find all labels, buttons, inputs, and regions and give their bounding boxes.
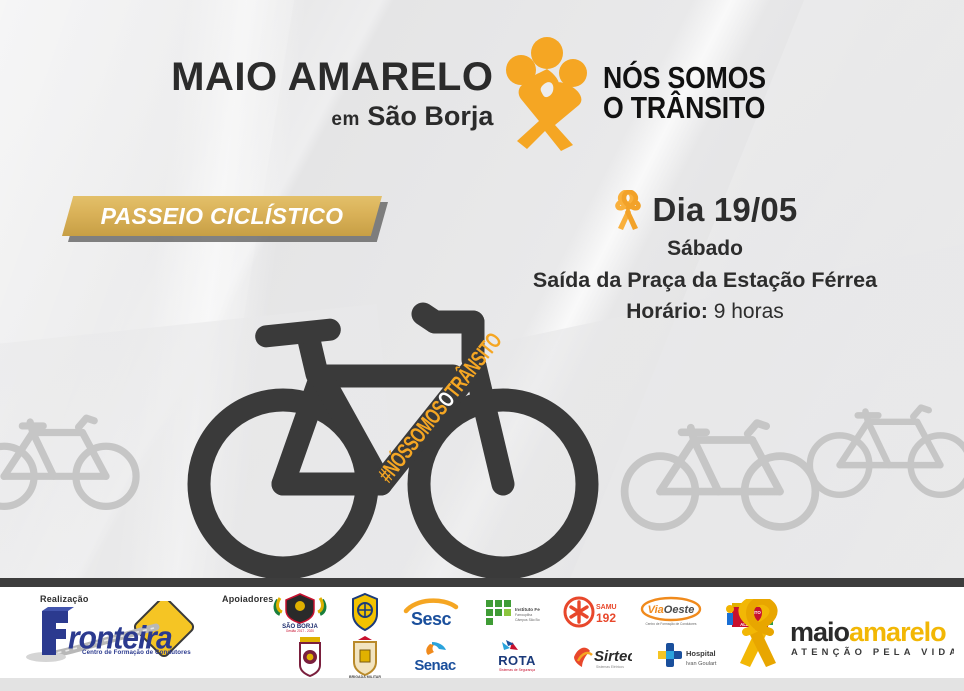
campaign-title-main: MAIO AMARELO (171, 57, 493, 97)
banner-label: PASSEIO CICLÍSTICO (101, 203, 344, 230)
svg-text:Farroupilha: Farroupilha (515, 613, 532, 617)
sponsor-logo-samu-192: SAMU 192 (562, 594, 618, 630)
event-date: Dia 19/05 (653, 191, 798, 229)
sponsor-logo-sao-borja: SÃO BORJA Gestão 2017 - 2020 (272, 592, 328, 632)
yellow-ribbon-icon (740, 601, 776, 667)
svg-text:ViaOeste: ViaOeste (648, 604, 695, 616)
nos-somos-o-transito-logo-icon (499, 33, 595, 153)
svg-text:Gestão 2017 - 2020: Gestão 2017 - 2020 (286, 629, 314, 632)
event-date-row: Dia 19/05 (490, 190, 920, 230)
event-time-label: Horário: (626, 300, 708, 323)
footer-divider (0, 578, 964, 587)
svg-text:SAMU: SAMU (596, 604, 617, 611)
organizer-logo-fronteira: ronteira Centro de Formação de Condutore… (24, 601, 204, 663)
svg-text:Instituto Federal: Instituto Federal (515, 607, 540, 612)
organizer-tagline: Centro de Formação de Condutores (82, 649, 191, 656)
sponsor-logo-senac: Senac (406, 638, 464, 674)
svg-text:Hospital: Hospital (686, 649, 716, 658)
svg-text:Sistemas de Segurança: Sistemas de Segurança (499, 668, 535, 672)
svg-text:Câmpus São Borja: Câmpus São Borja (515, 618, 540, 622)
sponsor-logo-prefeitura-crest (296, 635, 324, 677)
ghost-bicycle-icon (620, 400, 820, 540)
svg-text:Senac: Senac (414, 657, 455, 674)
poster-canvas: #NÓSSOMOSOTRÂNSITO MAIO AMARELO em São B… (0, 0, 964, 691)
footer-bottom-strip (0, 678, 964, 691)
poster-footer: Realização Apoiadores ronteira Centro de… (0, 587, 964, 678)
sponsor-logo-guarda-municipal (350, 592, 380, 632)
sponsor-logo-brigada-militar: BRIGADA MILITAR (348, 634, 382, 678)
campaign-slogan: NÓS SOMOS O TRÂNSITO (603, 63, 792, 123)
sponsors-row-1: SÃO BORJA Gestão 2017 - 2020 Sesc (272, 592, 776, 632)
svg-text:Sirtec: Sirtec (594, 648, 632, 665)
sponsors-grid: SÃO BORJA Gestão 2017 - 2020 Sesc (272, 590, 722, 678)
maio-amarelo-campaign-logo: maioamarelo ATENÇÃO PELA VIDA (728, 599, 954, 667)
event-weekday: Sábado (490, 237, 920, 261)
apoiadores-label: Apoiadores (222, 594, 274, 604)
svg-text:Sesc: Sesc (411, 609, 452, 629)
sponsor-logo-hospital-ivan-goulart: Hospital Ivan Goulart (656, 639, 718, 673)
ghost-bicycle-icon (0, 398, 140, 518)
poster-background: #NÓSSOMOSOTRÂNSITO MAIO AMARELO em São B… (0, 0, 964, 578)
maio-amarelo-tagline: ATENÇÃO PELA VIDA (791, 646, 954, 657)
campaign-slogan-line2: O TRÂNSITO (603, 93, 766, 123)
sponsor-logo-instituto-federal: Instituto Federal Farroupilha Câmpus São… (482, 594, 540, 630)
ghost-bicycle-icon (806, 388, 964, 506)
event-location: Saída da Praça da Estação Férrea (490, 268, 920, 293)
campaign-slogan-line1: NÓS SOMOS (603, 63, 766, 93)
campaign-title-sub: em São Borja (171, 103, 493, 130)
campaign-title-city: São Borja (367, 101, 493, 131)
sponsor-logo-rota: ROTA Sistemas de Segurança (488, 638, 546, 674)
awareness-ribbon-icon (613, 190, 643, 230)
svg-text:Centro de Formação de Condutor: Centro de Formação de Condutores (645, 622, 696, 626)
sponsor-logo-sirtec: Sirtec Sistemas Elétricos (570, 639, 632, 673)
poster-header: MAIO AMARELO em São Borja NÓS SOMOS O TR… (0, 28, 964, 158)
sponsor-logo-sesc: Sesc (402, 595, 460, 629)
svg-text:Ivan Goulart: Ivan Goulart (686, 661, 717, 667)
event-time: Horário: 9 horas (490, 300, 920, 324)
campaign-title-preposition: em (331, 109, 359, 130)
svg-text:Sistemas Elétricos: Sistemas Elétricos (596, 665, 624, 669)
event-details: Dia 19/05 Sábado Saída da Praça da Estaç… (490, 190, 920, 324)
svg-text:ROTA: ROTA (498, 653, 536, 668)
svg-text:192: 192 (596, 611, 616, 625)
main-bicycle-graphic: #NÓSSOMOSOTRÂNSITO (185, 300, 605, 578)
sponsor-logo-viaoeste: ViaOeste Centro de Formação de Condutore… (640, 595, 702, 629)
event-time-value: 9 horas (714, 300, 784, 323)
passeio-ciclistico-banner: PASSEIO CICLÍSTICO (62, 196, 382, 240)
sponsors-row-2: BRIGADA MILITAR Senac ROTA (296, 634, 718, 678)
maio-amarelo-wordmark: maioamarelo (790, 617, 946, 647)
banner-face: PASSEIO CICLÍSTICO (62, 196, 382, 236)
campaign-title: MAIO AMARELO em São Borja (171, 57, 493, 130)
